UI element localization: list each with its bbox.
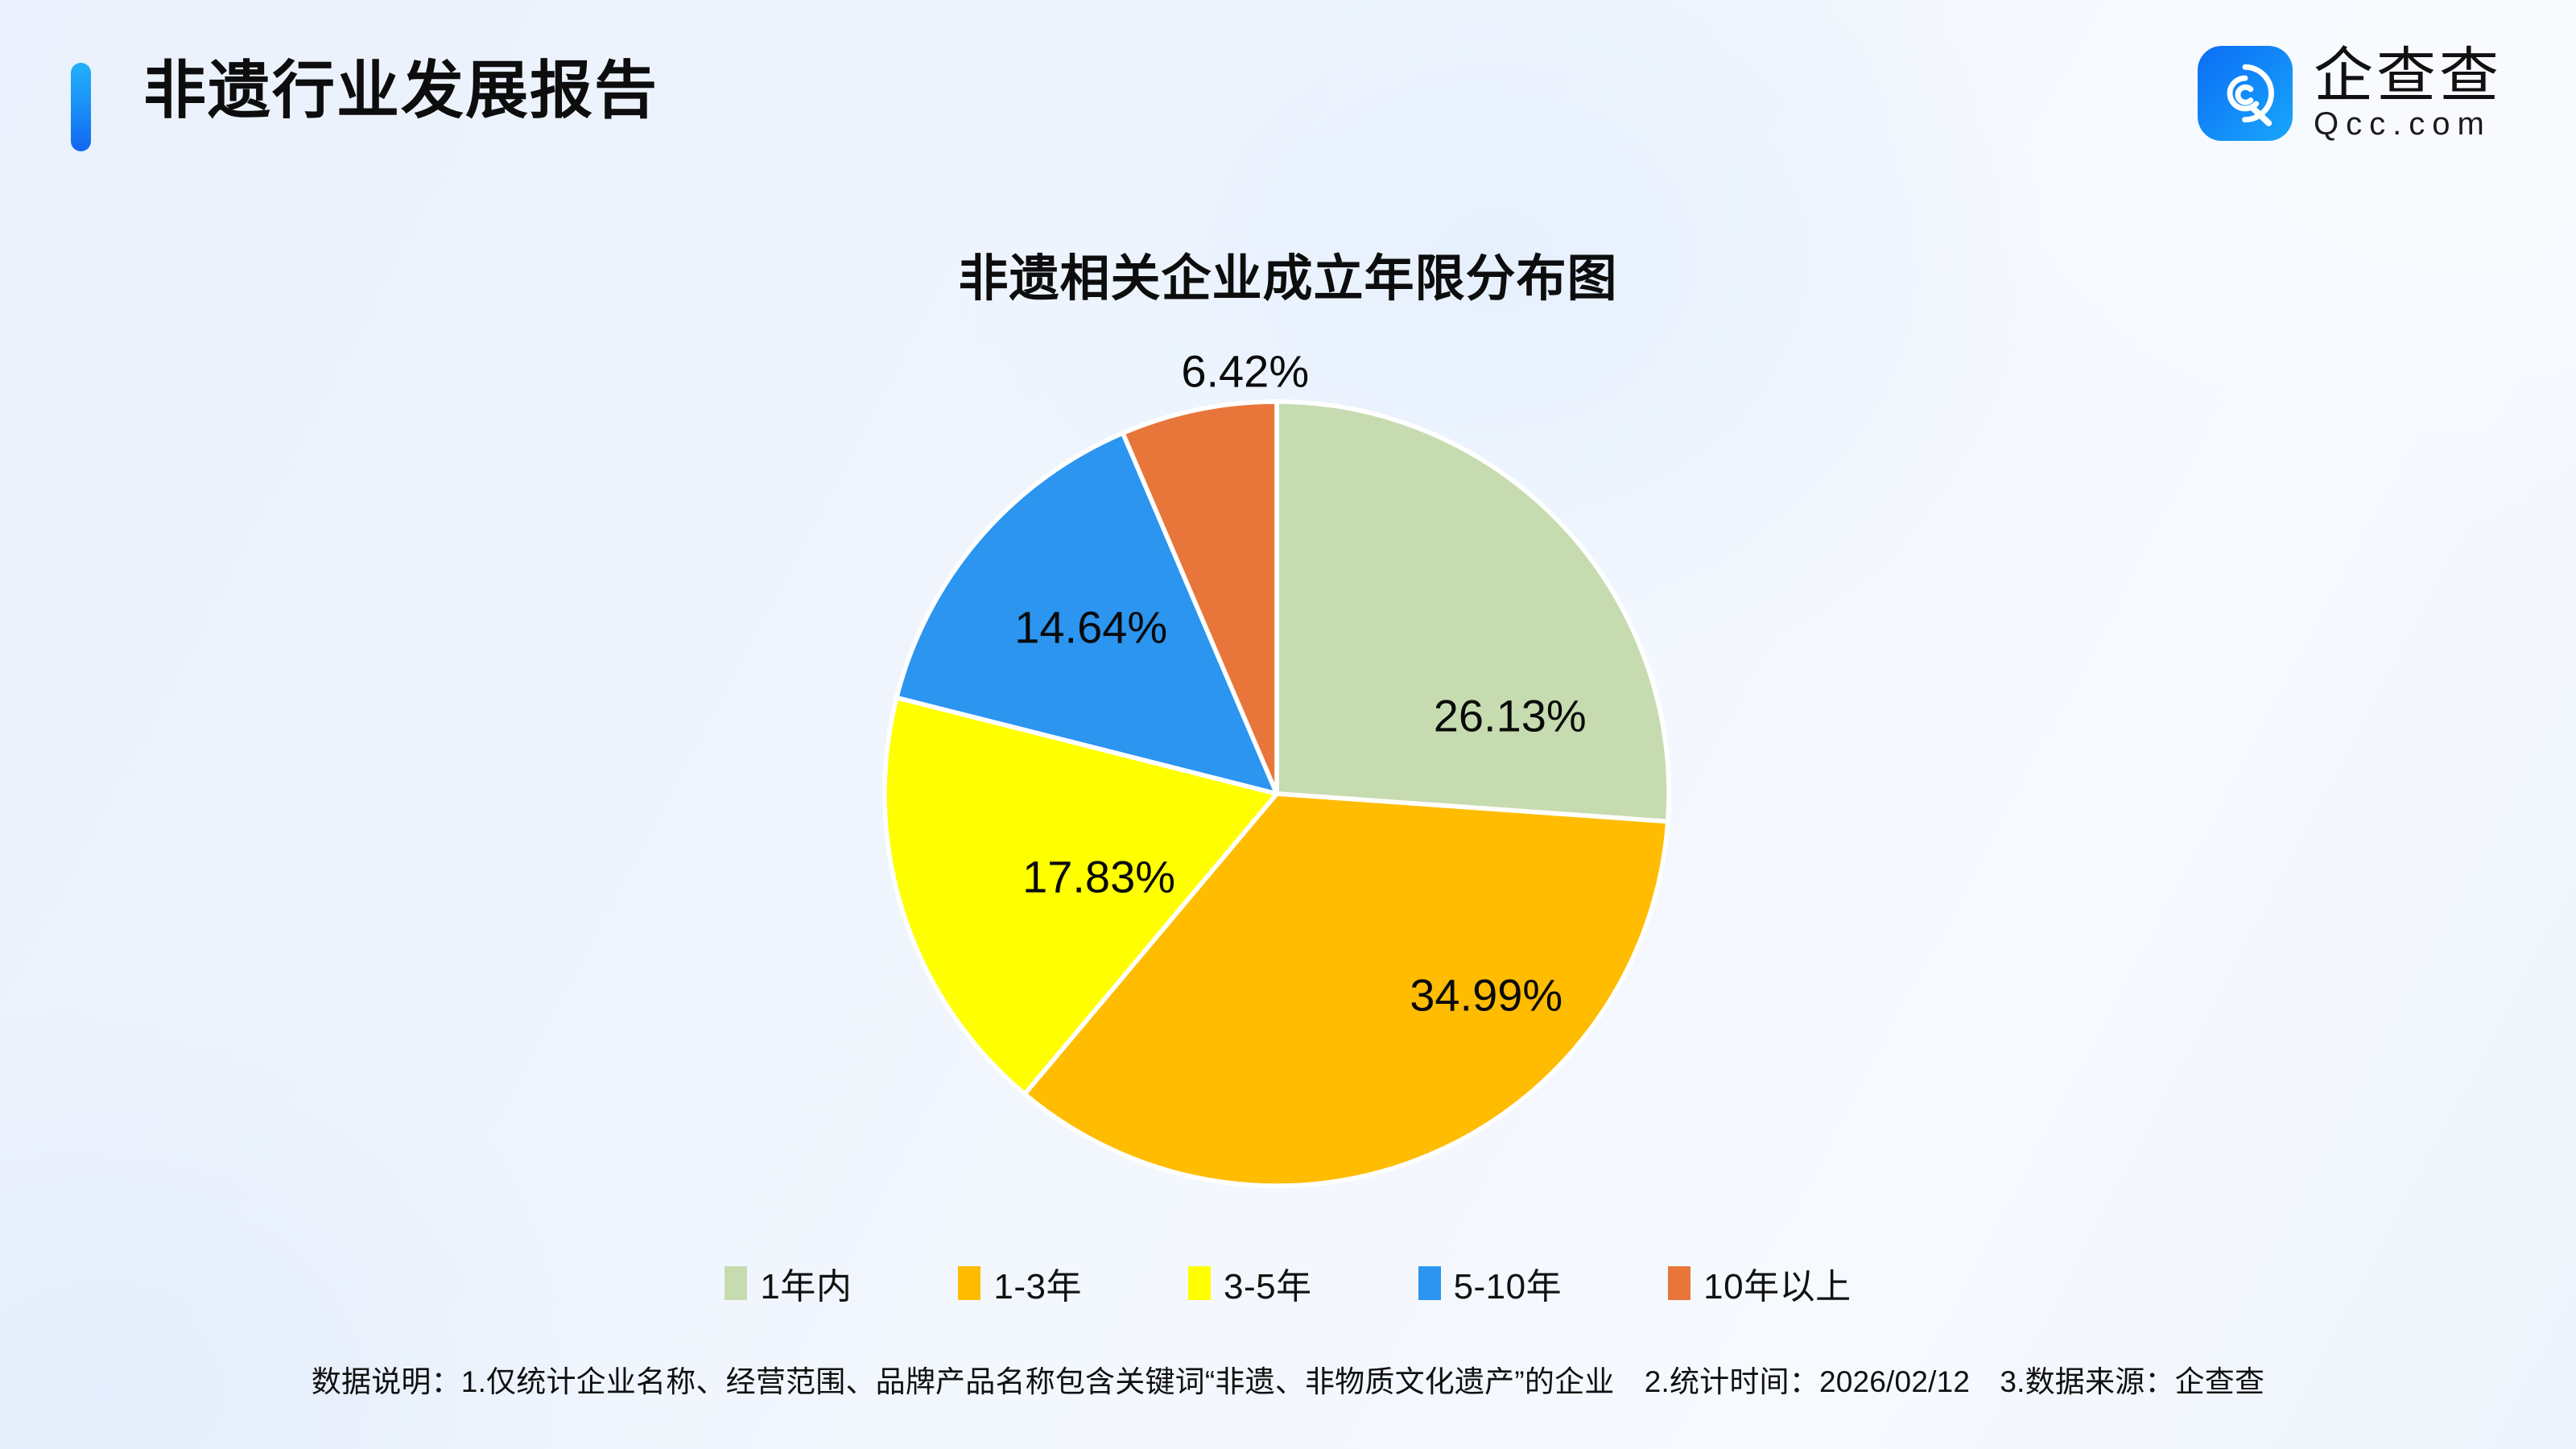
report-page: 非遗行业发展报告 企查查 Qcc.com 非遗相关企业成立年限分布图 26.13… (0, 0, 2576, 1449)
pie-chart: 26.13%34.99%17.83%14.64%6.42% (881, 398, 1672, 1189)
footer-note: 数据说明：1.仅统计企业名称、经营范围、品牌产品名称包含关键词“非遗、非物质文化… (0, 1357, 2576, 1401)
legend-item[interactable]: 3-5年 (1188, 1257, 1312, 1309)
brand-name-en: Qcc.com (2314, 107, 2502, 141)
brand-logo: 企查查 Qcc.com (2198, 45, 2502, 141)
legend-swatch (958, 1266, 980, 1300)
legend-label: 5-10年 (1454, 1257, 1563, 1309)
chart-legend: 1年内1-3年3-5年5-10年10年以上 (0, 1257, 2576, 1309)
legend-label: 10年以上 (1703, 1257, 1851, 1309)
page-title: 非遗行业发展报告 (143, 50, 658, 131)
title-accent-bar (71, 63, 91, 151)
legend-swatch (1668, 1266, 1690, 1300)
qcc-logo-icon (2198, 46, 2293, 141)
pie-slice-label: 34.99% (1410, 969, 1563, 1022)
legend-label: 1-3年 (993, 1257, 1082, 1309)
pie-slice-label: 6.42% (1181, 345, 1309, 397)
pie-chart-svg (881, 398, 1672, 1189)
legend-swatch (1188, 1266, 1211, 1300)
pie-slice-label: 26.13% (1434, 689, 1587, 741)
pie-slice-label: 17.83% (1022, 851, 1175, 903)
legend-item[interactable]: 10年以上 (1668, 1257, 1851, 1309)
legend-swatch (1418, 1266, 1441, 1300)
legend-item[interactable]: 1-3年 (958, 1257, 1082, 1309)
legend-label: 1年内 (760, 1257, 852, 1309)
legend-item[interactable]: 5-10年 (1418, 1257, 1563, 1309)
brand-name-cn: 企查查 (2314, 45, 2502, 105)
pie-slice-label: 14.64% (1014, 601, 1167, 653)
brand-text: 企查查 Qcc.com (2314, 45, 2502, 141)
legend-swatch (724, 1266, 747, 1300)
report-header: 非遗行业发展报告 企查查 Qcc.com (0, 0, 2576, 201)
chart-title: 非遗相关企业成立年限分布图 (0, 237, 2576, 310)
legend-item[interactable]: 1年内 (724, 1257, 852, 1309)
pie-slice[interactable] (1277, 402, 1669, 822)
legend-label: 3-5年 (1224, 1257, 1312, 1309)
